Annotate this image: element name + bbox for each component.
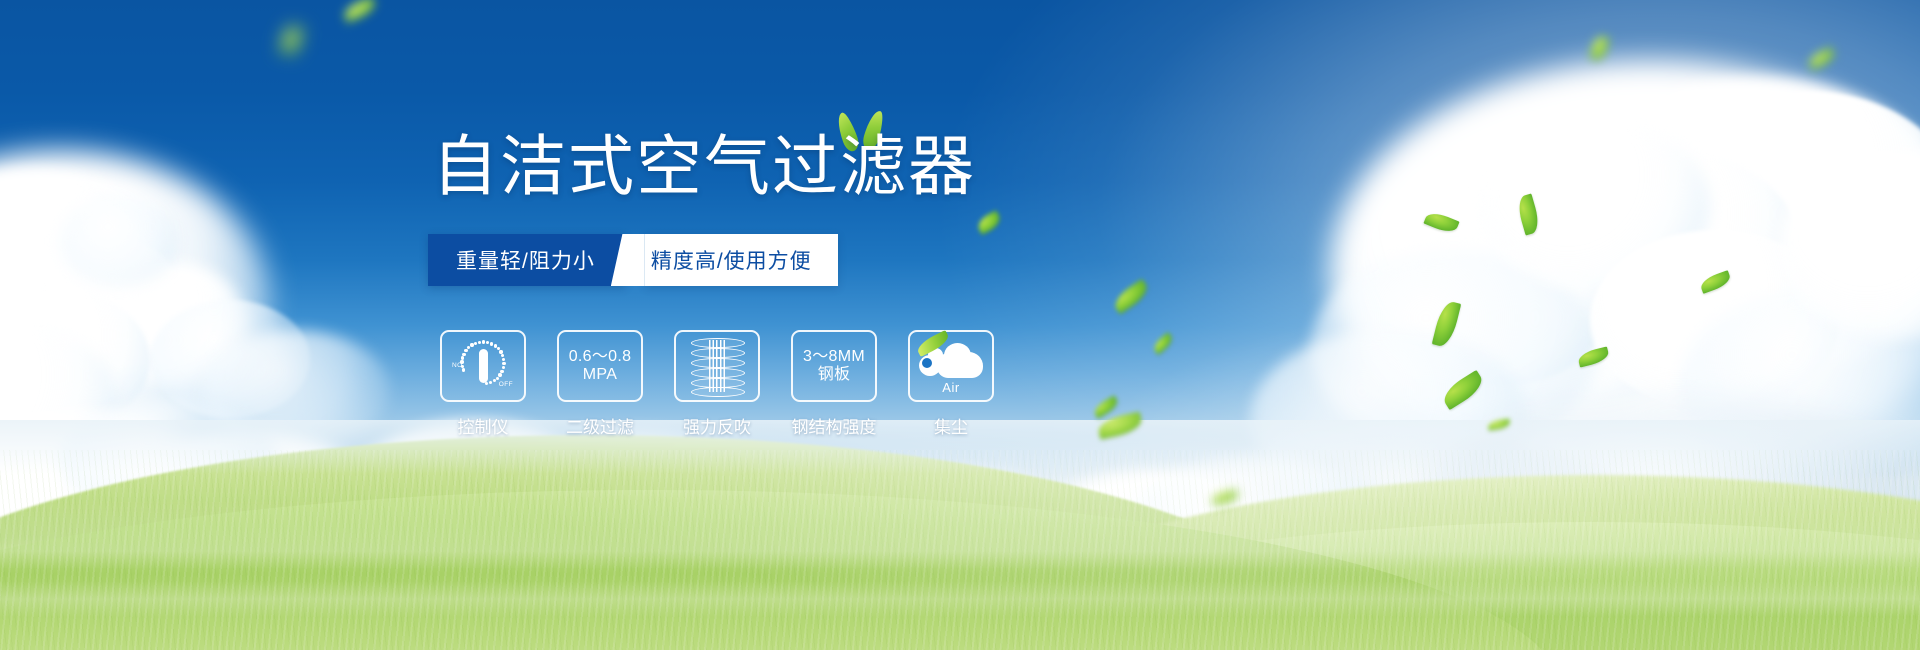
gauge-needle-icon xyxy=(479,349,488,383)
cloud-top-puff xyxy=(944,343,971,368)
gauge-dot xyxy=(502,366,505,369)
gauge-dot xyxy=(461,356,464,359)
feature-dust-collection[interactable]: Air 集尘 xyxy=(907,330,995,438)
gauge-label-off: OFF xyxy=(499,381,513,388)
gauge-dot xyxy=(498,373,501,376)
coil-ring xyxy=(691,358,745,368)
steel-thickness: 3〜8MM xyxy=(803,348,865,365)
gauge-dot xyxy=(502,362,505,365)
feature-controller[interactable]: NO OFF 控制仪 xyxy=(439,330,527,438)
tab-high-precision-easy-use[interactable]: 精度高/使用方便 xyxy=(645,234,838,286)
feature-tab-group: 重量轻/阻力小 精度高/使用方便 xyxy=(428,234,838,286)
gauge-dot xyxy=(490,342,493,345)
feature-controller-box: NO OFF xyxy=(440,330,526,402)
gauge-dot xyxy=(489,381,492,384)
pressure-value: 0.6〜0.8 xyxy=(569,348,632,365)
coil-ring xyxy=(691,368,745,378)
steel-plate-text-icon: 3〜8MM 钢板 xyxy=(803,348,865,384)
cloud-air-icon: Air xyxy=(918,338,984,394)
gauge-dot xyxy=(493,379,496,382)
gauge-dot xyxy=(482,340,485,343)
coil-ring xyxy=(691,387,745,397)
gauge-dial-icon: NO OFF xyxy=(452,337,514,395)
pressure-unit: MPA xyxy=(569,366,632,384)
feature-two-stage-filtration[interactable]: 0.6〜0.8 MPA 二级过滤 xyxy=(556,330,644,438)
gauge-dot xyxy=(502,358,505,361)
feature-steel-strength[interactable]: 3〜8MM 钢板 钢结构强度 xyxy=(790,330,878,438)
pressure-text-icon: 0.6〜0.8 MPA xyxy=(569,348,632,384)
gauge-dot xyxy=(462,353,465,356)
cloud-cutout xyxy=(922,358,932,368)
tab-lightweight-low-resistance[interactable]: 重量轻/阻力小 xyxy=(428,234,625,286)
feature-icon-row: NO OFF 控制仪 0.6〜0.8 MPA 二级过滤 xyxy=(439,330,995,438)
feature-steel-box: 3〜8MM 钢板 xyxy=(791,330,877,402)
feature-dust-box: Air xyxy=(908,330,994,402)
filter-coil-icon xyxy=(691,337,743,395)
feature-filtration-caption: 二级过滤 xyxy=(566,413,634,438)
feature-dust-caption: 集尘 xyxy=(934,413,968,438)
feature-back-blow[interactable]: 强力反吹 xyxy=(673,330,761,438)
cloud-air-label: Air xyxy=(918,380,984,395)
page-title: 自洁式空气过滤器 xyxy=(432,133,976,199)
feature-back-blow-caption: 强力反吹 xyxy=(683,413,751,438)
feature-coil-box xyxy=(674,330,760,402)
feature-controller-caption: 控制仪 xyxy=(458,413,509,438)
steel-material: 钢板 xyxy=(803,366,865,384)
gauge-dot xyxy=(501,354,504,357)
feature-steel-caption: 钢结构强度 xyxy=(792,413,877,438)
gauge-dot xyxy=(464,349,467,352)
gauge-dot xyxy=(478,341,481,344)
feature-pressure-box: 0.6〜0.8 MPA xyxy=(557,330,643,402)
product-hero-banner: 自洁式空气过滤器 重量轻/阻力小 精度高/使用方便 NO OFF 控制仪 xyxy=(0,0,1920,650)
gauge-label-no: NO xyxy=(452,362,463,369)
gauge-dot xyxy=(486,341,489,344)
gauge-dot xyxy=(474,342,477,345)
gauge-dot xyxy=(496,377,499,380)
coil-ring xyxy=(691,348,745,358)
coil-ring xyxy=(691,338,745,348)
